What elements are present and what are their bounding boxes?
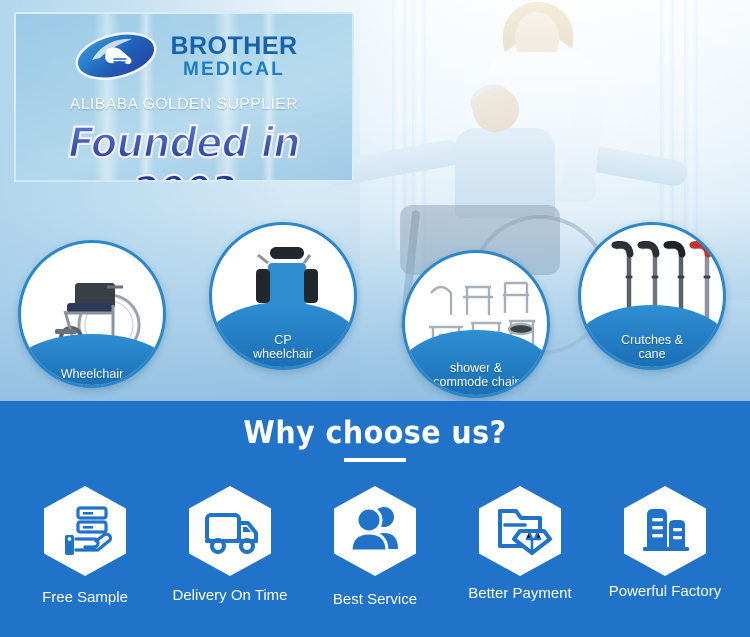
feature-label: Delivery On Time [163,587,297,604]
title-underline [344,458,406,462]
features-row: Free Sample Delivery On Time [0,483,750,633]
feature-delivery-on-time[interactable]: Delivery On Time [163,483,297,604]
product-label-line2: cane [638,347,665,361]
product-label: shower & commode chair [433,362,518,389]
product-label-line1: Crutches & [621,333,683,347]
supplier-tagline: ALIBABA GOLDEN SUPPLIER [16,96,352,114]
product-label-line1: CP [274,333,291,347]
feature-best-service[interactable]: Best Service [308,483,442,608]
product-circle-shower-commode[interactable]: shower & commode chair [402,250,550,398]
hand-holding-boxes-icon [37,483,133,579]
company-banner: BROTHER MEDICAL ALIBABA GOLDEN SUPPLIER … [14,12,354,182]
founded-headline: Founded in 2003 [29,118,338,182]
product-circle-cp-wheelchair[interactable]: CP wheelchair [209,222,357,370]
brand-name-line2: MEDICAL [170,60,297,79]
product-label-line1: shower & [450,361,502,375]
delivery-truck-icon [182,483,278,579]
brand-name-line1: BROTHER [170,32,297,60]
product-label: CP wheelchair [253,334,313,361]
brand-logo: BROTHER MEDICAL [16,28,352,84]
why-choose-us-title: Why choose us? [30,415,720,451]
folder-diamond-icon [472,483,568,579]
feature-label: Free Sample [18,589,152,606]
product-label: Crutches & cane [621,334,683,361]
product-circle-wheelchair[interactable]: Wheelchair [18,240,166,388]
brand-wordmark: BROTHER MEDICAL [170,34,297,79]
two-people-icon [327,483,423,579]
product-label-line2: wheelchair [253,347,313,361]
hero-section: BROTHER MEDICAL ALIBABA GOLDEN SUPPLIER … [0,0,750,401]
factory-buildings-icon [617,483,713,579]
feature-label: Best Service [308,591,442,608]
handshake-ellipse-logo-icon [70,28,162,84]
product-label: Wheelchair [61,368,124,382]
why-choose-us-section: Why choose us? Free Sample [0,401,750,637]
feature-label: Powerful Factory [598,583,732,600]
feature-label: Better Payment [453,585,587,602]
feature-powerful-factory[interactable]: Powerful Factory [598,483,732,600]
product-circle-crutches-cane[interactable]: Crutches & cane [578,222,726,370]
feature-better-payment[interactable]: Better Payment [453,483,587,602]
feature-free-sample[interactable]: Free Sample [18,483,152,606]
product-label-line2: commode chair [433,375,518,389]
